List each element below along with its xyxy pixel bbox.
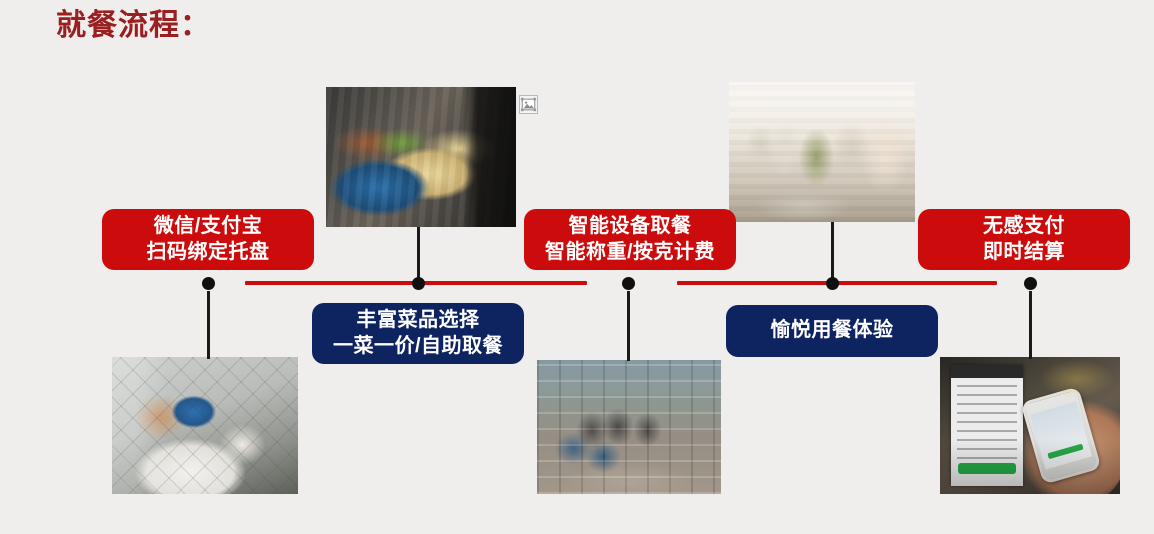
payment-panel-text-lines xyxy=(957,385,1018,460)
step-label-2[interactable]: 丰富菜品选择 一菜一价/自助取餐 xyxy=(312,303,524,364)
stem-step-5 xyxy=(1029,291,1032,359)
step-label-1-line1: 微信/支付宝 xyxy=(154,214,263,240)
payment-confirm-button-shape xyxy=(958,463,1016,474)
stem-step-1 xyxy=(207,291,210,359)
photo-dine xyxy=(537,360,721,494)
step-label-4[interactable]: 愉悦用餐体验 xyxy=(726,305,938,357)
step-label-3-line2: 智能称重/按克计费 xyxy=(545,240,715,266)
step-label-1[interactable]: 微信/支付宝 扫码绑定托盘 xyxy=(102,209,314,270)
step-label-2-line1: 丰富菜品选择 xyxy=(357,308,480,334)
payment-panel-titlebar xyxy=(951,365,1023,378)
broken-image-icon xyxy=(519,95,538,114)
step-label-5-line1: 无感支付 xyxy=(983,214,1065,240)
timeline-node-3[interactable] xyxy=(622,277,635,290)
photo-pay xyxy=(940,357,1120,494)
photo-scan xyxy=(112,357,298,494)
step-label-5-line2: 即时结算 xyxy=(983,240,1065,266)
photo-scan-image xyxy=(112,357,298,494)
stem-step-4 xyxy=(831,222,834,285)
stem-step-3 xyxy=(627,291,630,361)
step-label-2-line2: 一菜一价/自助取餐 xyxy=(333,334,503,360)
photo-dine-image xyxy=(537,360,721,494)
photo-trays xyxy=(326,87,516,227)
slide-canvas: 就餐流程： xyxy=(0,0,1154,534)
photo-trays-image xyxy=(326,87,516,227)
step-label-3[interactable]: 智能设备取餐 智能称重/按克计费 xyxy=(524,209,736,270)
timeline-node-4[interactable] xyxy=(826,277,839,290)
timeline-node-5[interactable] xyxy=(1024,277,1037,290)
photo-line-image xyxy=(729,82,915,222)
step-label-4-line1: 愉悦用餐体验 xyxy=(771,318,894,344)
step-label-3-line1: 智能设备取餐 xyxy=(569,214,692,240)
photo-pay-image xyxy=(940,357,1120,494)
photo-line xyxy=(729,82,915,222)
step-label-5[interactable]: 无感支付 即时结算 xyxy=(918,209,1130,270)
step-label-1-line2: 扫码绑定托盘 xyxy=(147,240,270,266)
phone-screen xyxy=(1030,401,1091,469)
page-title: 就餐流程： xyxy=(56,6,211,46)
timeline-node-2[interactable] xyxy=(412,277,425,290)
timeline-node-1[interactable] xyxy=(202,277,215,290)
